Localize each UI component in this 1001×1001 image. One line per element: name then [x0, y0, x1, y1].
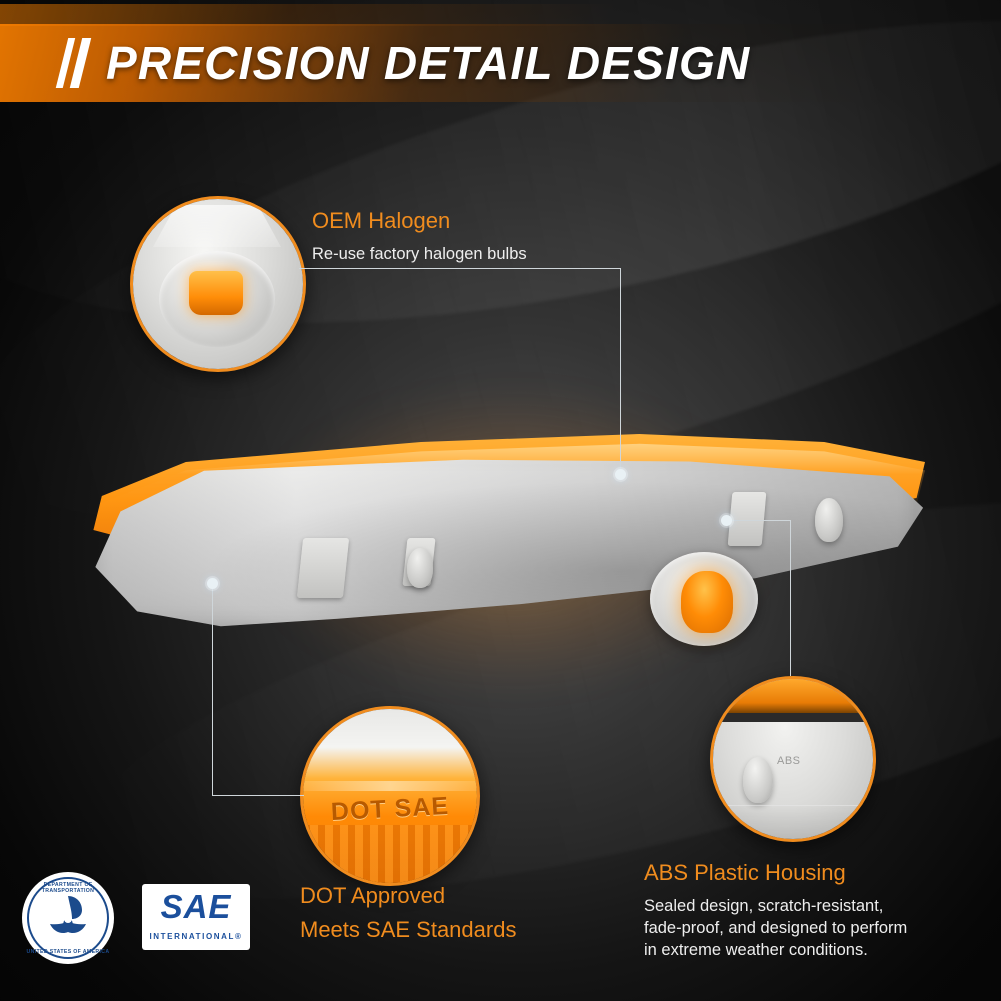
page-title: PRECISION DETAIL DESIGN — [106, 36, 966, 90]
leader-line-abs — [726, 520, 790, 521]
leader-dot-oem — [615, 469, 626, 480]
mounting-tab — [297, 538, 349, 598]
leader-line-dot — [212, 795, 304, 796]
callout-title-abs-housing: ABS Plastic Housing — [644, 860, 846, 886]
product-infographic: PRECISION DETAIL DESIGN OEM Halogen Re-u… — [0, 0, 1001, 1001]
callout-title-dot-approved: DOT Approved — [300, 881, 445, 911]
lens-stripe — [303, 781, 477, 791]
callout-title-oem-halogen: OEM Halogen — [312, 208, 450, 234]
leader-line-dot — [212, 583, 213, 795]
sae-badge-name: SAE — [142, 888, 250, 926]
product-image — [85, 430, 925, 660]
lens-edge-zoom — [713, 679, 873, 713]
sae-badge-subtitle: INTERNATIONAL® — [142, 932, 250, 941]
halogen-bulb — [681, 571, 733, 633]
callout-circle-dot-approved: DOT SAE — [300, 706, 480, 886]
lens-seal-line — [713, 713, 873, 722]
callout-circle-abs-housing: ABS — [710, 676, 876, 842]
callout-subtitle-oem-halogen: Re-use factory halogen bulbs — [312, 243, 527, 265]
callout-subtitle-abs-housing-line3: in extreme weather conditions. — [644, 939, 868, 961]
callout-subtitle-abs-housing-line1: Sealed design, scratch-resistant, — [644, 895, 883, 917]
callout-zoom-image: DOT SAE — [303, 709, 477, 883]
callout-subtitle-abs-housing-line2: fade-proof, and designed to perform — [644, 917, 907, 939]
locating-peg — [815, 498, 843, 542]
housing-mark-label: ABS — [777, 755, 801, 767]
lens-ribs — [303, 825, 477, 883]
sae-certification-badge: SAE INTERNATIONAL® — [142, 884, 250, 950]
leader-dot-dot — [207, 578, 218, 589]
locating-peg — [407, 548, 433, 588]
callout-circle-oem-halogen — [130, 196, 306, 372]
header-slash-icon — [62, 38, 85, 88]
halogen-bulb-zoom — [189, 271, 243, 315]
housing-ridge — [713, 805, 873, 840]
dot-badge-top-text: DEPARTMENT OF TRANSPORTATION — [22, 882, 114, 894]
header-band-accent — [0, 4, 1001, 26]
leader-dot-abs — [721, 515, 732, 526]
leader-line-oem — [620, 268, 621, 474]
dot-badge-bottom-text: UNITED STATES OF AMERICA — [22, 949, 114, 955]
callout-subtitle-dot-approved: Meets SAE Standards — [300, 915, 516, 945]
leader-line-abs — [790, 520, 791, 676]
locating-peg-zoom — [743, 757, 773, 803]
leader-line-oem — [299, 268, 621, 269]
mounting-tab — [728, 492, 767, 546]
dot-triskelion-icon — [42, 892, 94, 944]
callout-zoom-image: ABS — [713, 679, 873, 839]
dot-certification-badge: DEPARTMENT OF TRANSPORTATION UNITED STAT… — [22, 872, 114, 964]
lens-dot-sae-marking: DOT SAE — [302, 790, 477, 828]
callout-zoom-image — [133, 199, 303, 369]
